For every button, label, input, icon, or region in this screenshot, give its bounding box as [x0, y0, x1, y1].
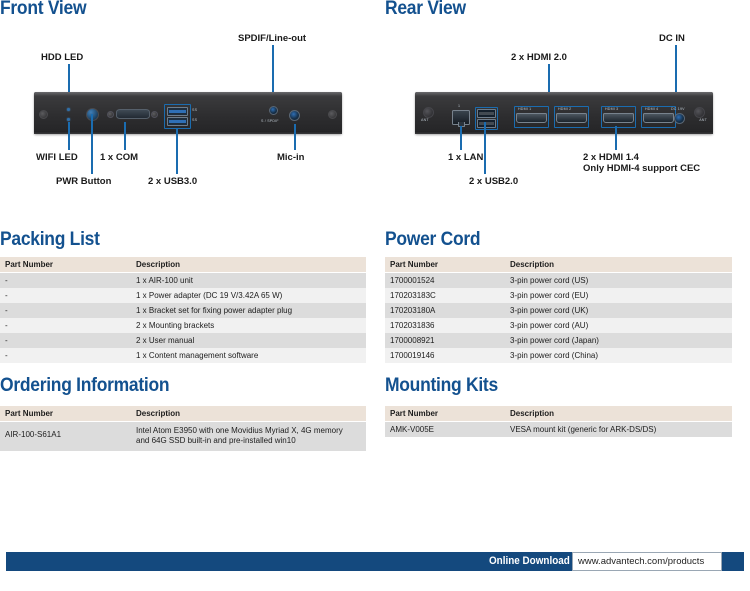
- dc-in-jack: [674, 113, 685, 124]
- table-row: 1700001524 3-pin power cord (US): [385, 273, 732, 289]
- callout-com: 1 x COM: [100, 152, 138, 163]
- cell-description: 1 x Power adapter (DC 19 V/3.42A 65 W): [131, 288, 366, 303]
- spdif-port-label: S / SPDIF: [261, 119, 279, 123]
- callout-dc-in: DC IN: [659, 33, 685, 44]
- hdmi2-label: HDMI 2: [558, 107, 571, 111]
- cell-part-number: 170203183C: [385, 288, 505, 303]
- cell-part-number: -: [0, 288, 131, 303]
- front-panel-chassis: SS SS S / SPDIF: [34, 92, 342, 134]
- callout-mic-in: Mic-in: [277, 152, 304, 163]
- header-part-number: Part Number: [385, 257, 505, 273]
- table-row: - 2 x Mounting brackets: [0, 318, 366, 333]
- table-row: 170203180A 3-pin power cord (UK): [385, 303, 732, 318]
- usb30-lower-label: SS: [192, 118, 197, 122]
- cell-part-number: 1700019146: [385, 348, 505, 363]
- table-row: AIR-100-S61A1 Intel Atom E3950 with one …: [0, 422, 366, 452]
- callout-hdmi14: 2 x HDMI 1.4 Only HDMI-4 support CEC: [583, 152, 700, 174]
- mic-in-jack: [289, 110, 300, 121]
- table-header-row: Part Number Description: [0, 257, 366, 273]
- antenna-hole-left: [423, 107, 434, 118]
- table-row: - 2 x User manual: [0, 333, 366, 348]
- cell-description: 3-pin power cord (Japan): [505, 333, 732, 348]
- hdmi4-label: HDMI 4: [645, 107, 658, 111]
- cell-description: 3-pin power cord (China): [505, 348, 732, 363]
- callout-wifi-led: WIFI LED: [36, 152, 78, 163]
- usb30-port-lower: [167, 117, 188, 126]
- table-row: - 1 x Power adapter (DC 19 V/3.42A 65 W): [0, 288, 366, 303]
- cell-description: 3-pin power cord (US): [505, 273, 732, 289]
- cell-part-number: -: [0, 318, 131, 333]
- cell-part-number: 1702031836: [385, 318, 505, 333]
- hdmi1-label: HDMI 1: [518, 107, 531, 111]
- table-row: 170203183C 3-pin power cord (EU): [385, 288, 732, 303]
- section-title-front-view: Front View: [0, 0, 86, 20]
- com-port: [116, 109, 150, 119]
- table-row: 1700008921 3-pin power cord (Japan): [385, 333, 732, 348]
- cell-description: 1 x AIR-100 unit: [131, 273, 366, 289]
- hdmi-port-1: [516, 113, 547, 123]
- chassis-screw-left: [39, 110, 48, 119]
- com-screw-left: [107, 111, 114, 118]
- callout-pwr-button: PWR Button: [56, 176, 111, 187]
- table-row: AMK-V005E VESA mount kit (generic for AR…: [385, 422, 732, 438]
- callout-usb20: 2 x USB2.0: [469, 176, 518, 187]
- table-header-row: Part Number Description: [385, 406, 732, 422]
- hdd-led-indicator: [67, 108, 70, 111]
- leader-lan: [460, 126, 462, 150]
- leader-usb30: [176, 128, 178, 174]
- header-description: Description: [505, 257, 732, 273]
- mounting-kits-body: AMK-V005E VESA mount kit (generic for AR…: [385, 422, 732, 438]
- cell-description: 1 x Bracket set for fixing power adapter…: [131, 303, 366, 318]
- lan-port-label: 1: [458, 104, 460, 108]
- cell-description: 3-pin power cord (AU): [505, 318, 732, 333]
- callout-hdd-led: HDD LED: [41, 52, 83, 63]
- section-title-ordering-information: Ordering Information: [0, 375, 169, 397]
- callout-hdmi14-line2: Only HDMI-4 support CEC: [583, 163, 700, 174]
- header-description: Description: [131, 257, 366, 273]
- leader-wifi-led: [68, 122, 70, 150]
- rear-chassis-top-edge: [415, 92, 713, 96]
- chassis-top-edge: [34, 92, 342, 96]
- usb30-upper-label: SS: [192, 108, 197, 112]
- power-cord-table: Part Number Description 1700001524 3-pin…: [385, 257, 732, 363]
- power-cord-body: 1700001524 3-pin power cord (US) 1702031…: [385, 273, 732, 364]
- ordering-information-body: AIR-100-S61A1 Intel Atom E3950 with one …: [0, 422, 366, 452]
- ant-left-label: ANT: [421, 118, 429, 122]
- cell-description: 1 x Content management software: [131, 348, 366, 363]
- cell-description: 3-pin power cord (EU): [505, 288, 732, 303]
- section-title-mounting-kits: Mounting Kits: [385, 375, 498, 397]
- table-header-row: Part Number Description: [385, 257, 732, 273]
- usb20-port-upper: [477, 109, 496, 118]
- callout-usb30: 2 x USB3.0: [148, 176, 197, 187]
- cell-part-number: -: [0, 348, 131, 363]
- cell-part-number: -: [0, 273, 131, 289]
- leader-usb20: [484, 122, 486, 174]
- online-download-url[interactable]: www.advantech.com/products: [572, 552, 722, 571]
- table-row: - 1 x AIR-100 unit: [0, 273, 366, 289]
- leader-mic-in: [294, 124, 296, 150]
- header-part-number: Part Number: [0, 257, 131, 273]
- callout-hdmi14-line1: 2 x HDMI 1.4: [583, 152, 639, 163]
- chassis-bottom-edge: [34, 131, 342, 134]
- mounting-kits-table: Part Number Description AMK-V005E VESA m…: [385, 406, 732, 437]
- packing-list-body: - 1 x AIR-100 unit - 1 x Power adapter (…: [0, 273, 366, 364]
- hdmi3-label: HDMI 3: [605, 107, 618, 111]
- cell-description: VESA mount kit (generic for ARK-DS/DS): [505, 422, 732, 438]
- packing-list-table: Part Number Description - 1 x AIR-100 un…: [0, 257, 366, 363]
- ant-right-label: ANT: [699, 118, 707, 122]
- header-description: Description: [131, 406, 366, 422]
- datasheet-page: Front View HDD LED SPDIF/Line-out: [0, 0, 750, 591]
- cell-part-number: -: [0, 333, 131, 348]
- section-title-packing-list: Packing List: [0, 229, 100, 251]
- table-header-row: Part Number Description: [0, 406, 366, 422]
- header-description: Description: [505, 406, 732, 422]
- antenna-hole-right: [694, 107, 705, 118]
- ordering-information-table: Part Number Description AIR-100-S61A1 In…: [0, 406, 366, 451]
- cell-part-number: AMK-V005E: [385, 422, 505, 438]
- table-row: - 1 x Bracket set for fixing power adapt…: [0, 303, 366, 318]
- section-title-power-cord: Power Cord: [385, 229, 480, 251]
- header-part-number: Part Number: [0, 406, 131, 422]
- section-title-rear-view: Rear View: [385, 0, 466, 20]
- online-download-label: Online Download: [489, 555, 570, 567]
- table-row: - 1 x Content management software: [0, 348, 366, 363]
- cell-description: 3-pin power cord (UK): [505, 303, 732, 318]
- cell-description: Intel Atom E3950 with one Movidius Myria…: [131, 422, 366, 452]
- dc-in-label: DC 19V: [671, 107, 685, 111]
- usb20-port-lower: [477, 119, 496, 128]
- hdmi-port-2: [556, 113, 587, 123]
- cell-part-number: 1700008921: [385, 333, 505, 348]
- com-screw-right: [151, 111, 158, 118]
- chassis-screw-right: [328, 110, 337, 119]
- wifi-led-indicator: [67, 118, 70, 121]
- header-part-number: Part Number: [385, 406, 505, 422]
- power-button[interactable]: [86, 108, 99, 121]
- leader-pwr-button: [91, 114, 93, 174]
- cell-description: 2 x User manual: [131, 333, 366, 348]
- table-row: 1700019146 3-pin power cord (China): [385, 348, 732, 363]
- usb30-port-upper: [167, 107, 188, 116]
- spdif-lineout-jack: [269, 106, 278, 115]
- leader-hdmi14: [615, 126, 617, 150]
- cell-part-number: 1700001524: [385, 273, 505, 289]
- callout-lan: 1 x LAN: [448, 152, 483, 163]
- cell-part-number: -: [0, 303, 131, 318]
- cell-part-number: 170203180A: [385, 303, 505, 318]
- hdmi-port-3: [603, 113, 634, 123]
- cell-part-number: AIR-100-S61A1: [0, 422, 131, 452]
- hdmi-port-4: [643, 113, 674, 123]
- callout-spdif-lineout: SPDIF/Line-out: [238, 33, 306, 44]
- callout-hdmi20: 2 x HDMI 2.0: [511, 52, 567, 63]
- table-row: 1702031836 3-pin power cord (AU): [385, 318, 732, 333]
- leader-com: [124, 122, 126, 150]
- cell-description: 2 x Mounting brackets: [131, 318, 366, 333]
- lan-port: [452, 110, 470, 125]
